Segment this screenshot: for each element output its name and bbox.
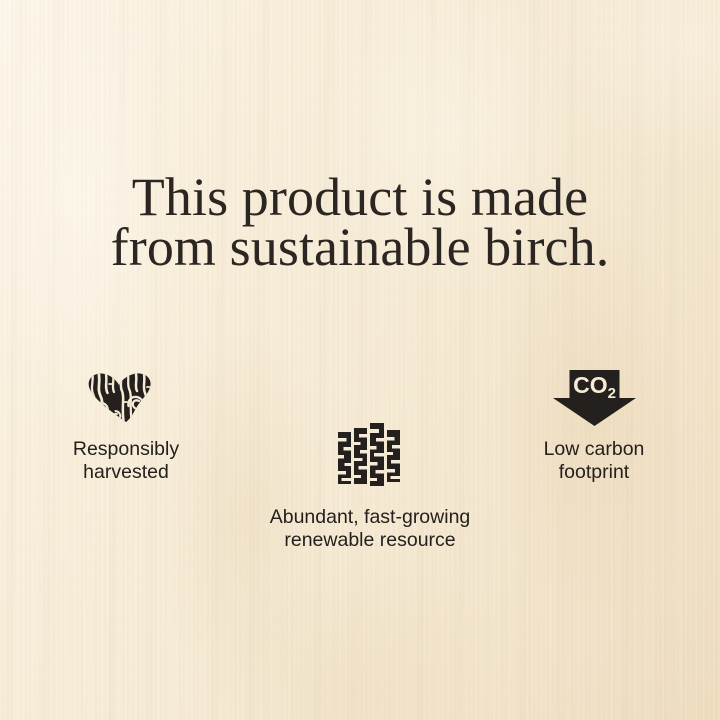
page-title-line-2: from sustainable birch.: [0, 222, 720, 272]
co2-down-arrow-icon: CO2: [553, 370, 636, 426]
feature-renewable-resource: Abundant, fast-growing renewable resourc…: [260, 420, 480, 552]
feature-label: Abundant, fast-growing renewable resourc…: [260, 506, 480, 552]
feature-icon-wrapper: [260, 420, 480, 486]
wood-grain-heart-icon: [87, 373, 165, 422]
wood-grain-mottling: [0, 0, 720, 720]
sustainable-birch-product-panel: This product is made from sustainable bi…: [0, 0, 720, 720]
page-title-line-1: This product is made: [0, 172, 720, 222]
feature-icon-wrapper: CO2: [494, 364, 694, 426]
feature-icon-wrapper: [26, 366, 226, 422]
feature-responsibly-harvested: Responsibly harvested: [26, 366, 226, 484]
birch-logs-icon: [337, 423, 403, 486]
feature-low-carbon-footprint: CO2 Low carbon footprint: [494, 364, 694, 484]
wood-grain-wide-bands: [0, 0, 720, 720]
feature-label: Responsibly harvested: [26, 438, 226, 484]
wood-grain-fine-streaks: [0, 0, 720, 720]
page-title: This product is made from sustainable bi…: [0, 172, 720, 272]
wood-tone-wash: [0, 0, 720, 720]
co2-icon-subscript: 2: [607, 385, 615, 402]
wood-grain-cross-texture: [0, 0, 720, 720]
feature-label: Low carbon footprint: [494, 438, 694, 484]
